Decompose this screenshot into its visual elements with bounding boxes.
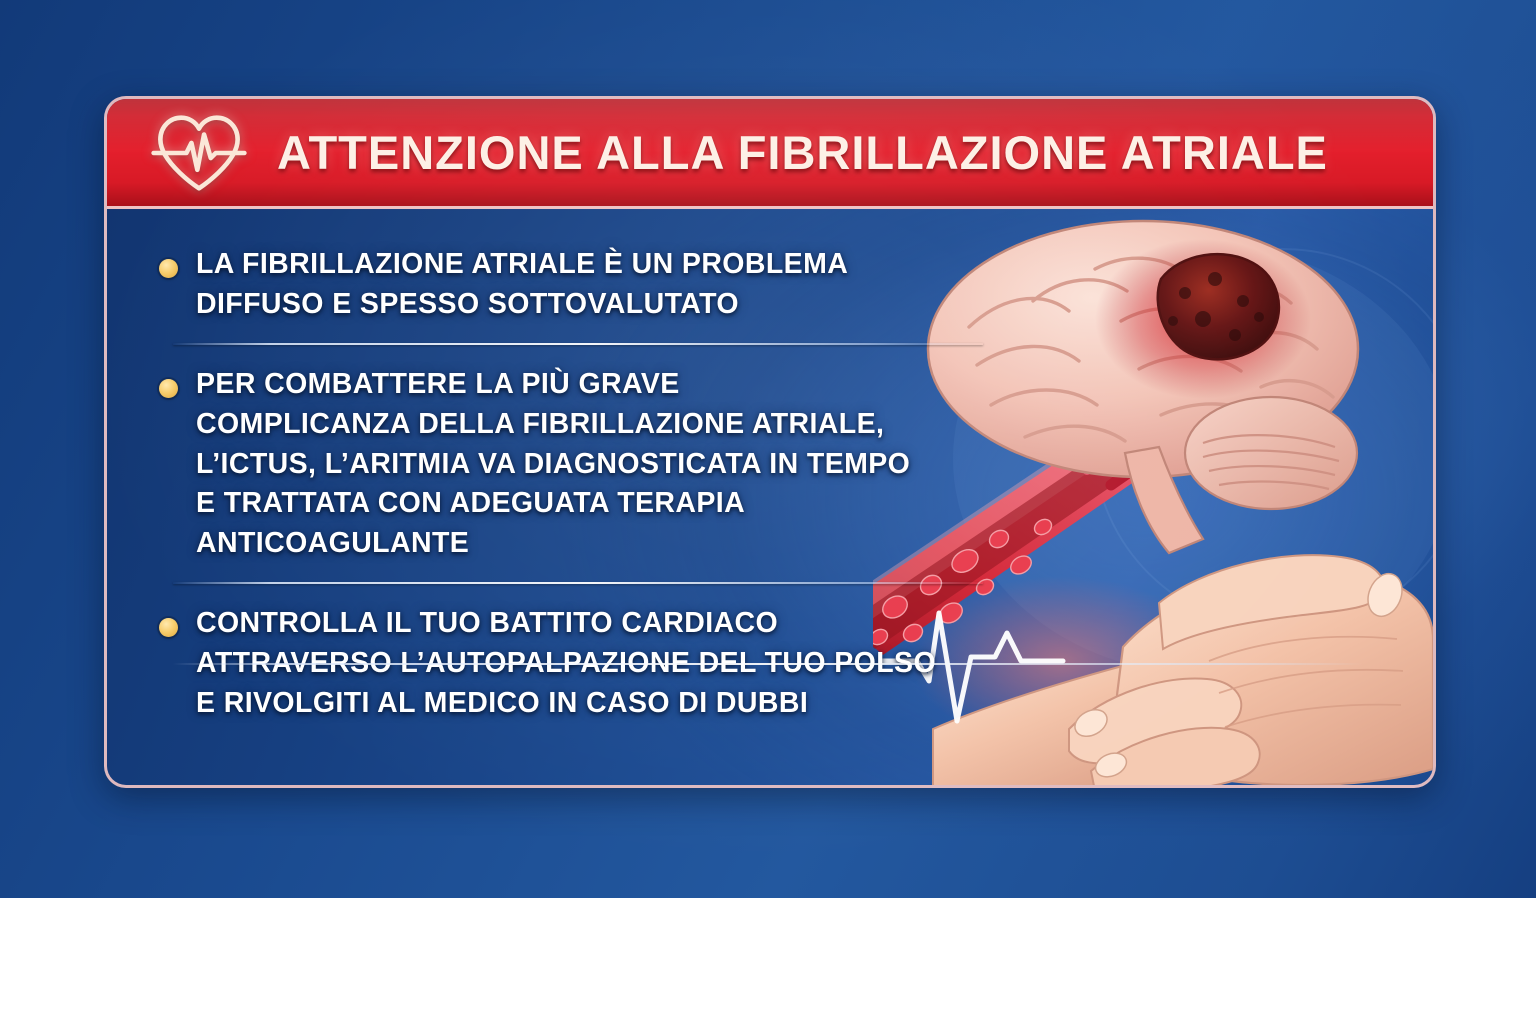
heart-pulse-icon: [145, 109, 253, 197]
bullet-marker-icon: [159, 259, 178, 278]
page-title: ATTENZIONE ALLA FIBRILLAZIONE ATRIALE: [277, 125, 1328, 180]
list-item[interactable]: CONTROLLA IL TUO BATTITO CARDIACO ATTRAV…: [145, 598, 1045, 724]
footer-divider: [173, 663, 1363, 665]
bullet-line: LA FIBRILLAZIONE ATRIALE È UN PROBLEMA: [196, 245, 848, 285]
bullet-marker-icon: [159, 618, 178, 637]
bullet-line: ANTICOAGULANTE: [196, 524, 910, 564]
poster-background: ATTENZIONE ALLA FIBRILLAZIONE ATRIALE: [0, 0, 1536, 898]
infographic-card: ATTENZIONE ALLA FIBRILLAZIONE ATRIALE: [104, 96, 1436, 788]
bullet-line: E RIVOLGITI AL MEDICO IN CASO DI DUBBI: [196, 684, 936, 724]
brain-stem: [1125, 447, 1203, 553]
bullet-line: DIFFUSO E SPESSO SOTTOVALUTATO: [196, 285, 848, 325]
bullet-list: LA FIBRILLAZIONE ATRIALE È UN PROBLEMA D…: [145, 209, 1045, 788]
bullet-line: L’ICTUS, L’ARITMIA VA DIAGNOSTICATA IN T…: [196, 445, 910, 485]
section-divider: [173, 582, 983, 584]
bullet-line: COMPLICANZA DELLA FIBRILLAZIONE ATRIALE,: [196, 405, 910, 445]
bullet-marker-icon: [159, 379, 178, 398]
bullet-line: PER COMBATTERE LA PIÙ GRAVE: [196, 365, 910, 405]
bullet-text-stroke-therapy: PER COMBATTERE LA PIÙ GRAVE COMPLICANZA …: [196, 365, 910, 564]
page-footer-area: [0, 898, 1536, 1024]
section-divider: [173, 343, 983, 345]
cerebellum: [1185, 397, 1357, 509]
list-item[interactable]: LA FIBRILLAZIONE ATRIALE È UN PROBLEMA D…: [145, 239, 1045, 325]
list-item[interactable]: PER COMBATTERE LA PIÙ GRAVE COMPLICANZA …: [145, 359, 1045, 564]
bullet-line: CONTROLLA IL TUO BATTITO CARDIACO: [196, 604, 936, 644]
bullet-text-prevalence: LA FIBRILLAZIONE ATRIALE È UN PROBLEMA D…: [196, 245, 848, 325]
bullet-line: E TRATTATA CON ADEGUATA TERAPIA: [196, 484, 910, 524]
stroke-clot-lesion: [1095, 239, 1311, 399]
card-header-banner: ATTENZIONE ALLA FIBRILLAZIONE ATRIALE: [107, 99, 1433, 209]
